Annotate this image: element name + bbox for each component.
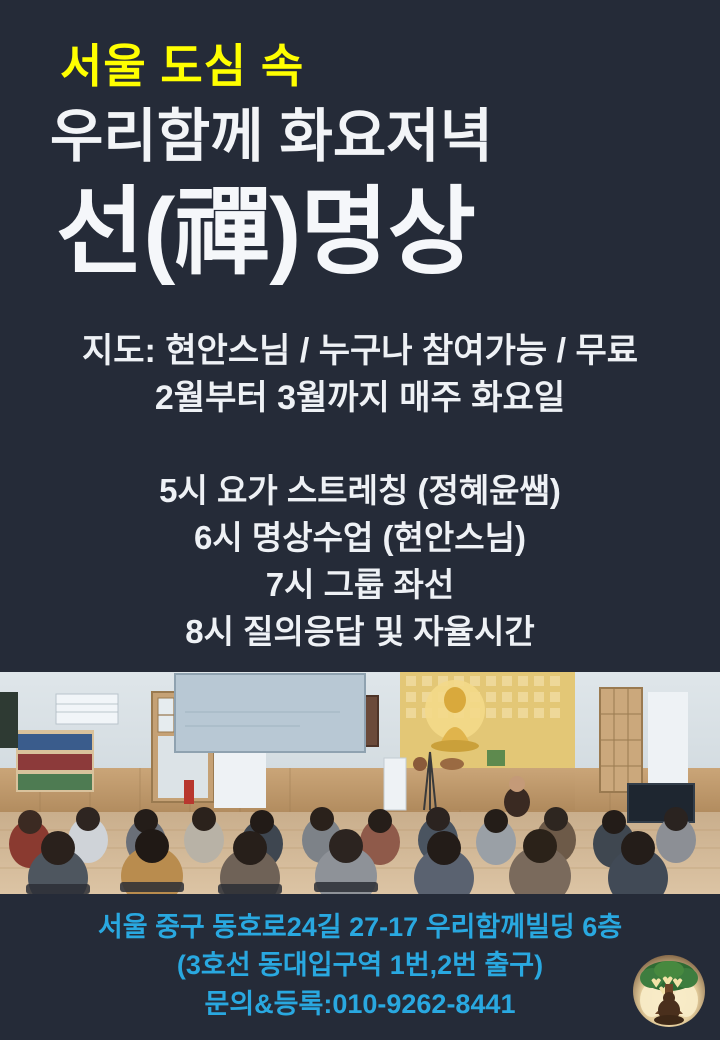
- footer-contact-group: 서울 중구 동호로24길 27-17 우리함께빌딩 6층 (3호선 동대입구역 …: [0, 908, 720, 1023]
- poster-info-group: 지도: 현안스님 / 누구나 참여가능 / 무료 2월부터 3월까지 매주 화요…: [0, 328, 720, 422]
- poster-header-block: 서울 도심 속 우리함께 화요저녁 선(禪)명상 지도: 현안스님 / 누구나 …: [0, 0, 720, 672]
- poster-footer: 서울 중구 동호로24길 27-17 우리함께빌딩 6층 (3호선 동대입구역 …: [0, 894, 720, 1040]
- meditation-poster: 서울 도심 속 우리함께 화요저녁 선(禪)명상 지도: 현안스님 / 누구나 …: [0, 0, 720, 1040]
- schedule-line-2: 6시 명상수업 (현안스님): [0, 515, 720, 562]
- schedule-line-4: 8시 질의응답 및 자율시간: [0, 609, 720, 656]
- footer-subway: (3호선 동대입구역 1번,2번 출구): [0, 946, 720, 984]
- poster-eyebrow: 서울 도심 속: [60, 43, 304, 89]
- schedule-line-3: 7시 그룹 좌선: [0, 562, 720, 609]
- footer-address: 서울 중구 동호로24길 27-17 우리함께빌딩 6층: [0, 908, 720, 946]
- poster-subtitle: 우리함께 화요저녁: [50, 108, 493, 166]
- dharma-hall-photo: [0, 672, 720, 894]
- footer-phone[interactable]: 문의&등록:010-9262-8441: [0, 985, 720, 1023]
- info-line-period: 2월부터 3월까지 매주 화요일: [0, 375, 720, 422]
- info-line-instructor: 지도: 현안스님 / 누구나 참여가능 / 무료: [0, 328, 720, 375]
- bodhi-tree-meditation-logo: [632, 954, 706, 1028]
- schedule-line-1: 5시 요가 스트레칭 (정혜윤쌤): [0, 468, 720, 515]
- poster-headline: 선(禪)명상: [56, 183, 475, 284]
- poster-schedule-group: 5시 요가 스트레칭 (정혜윤쌤) 6시 명상수업 (현안스님) 7시 그룹 좌…: [0, 468, 720, 655]
